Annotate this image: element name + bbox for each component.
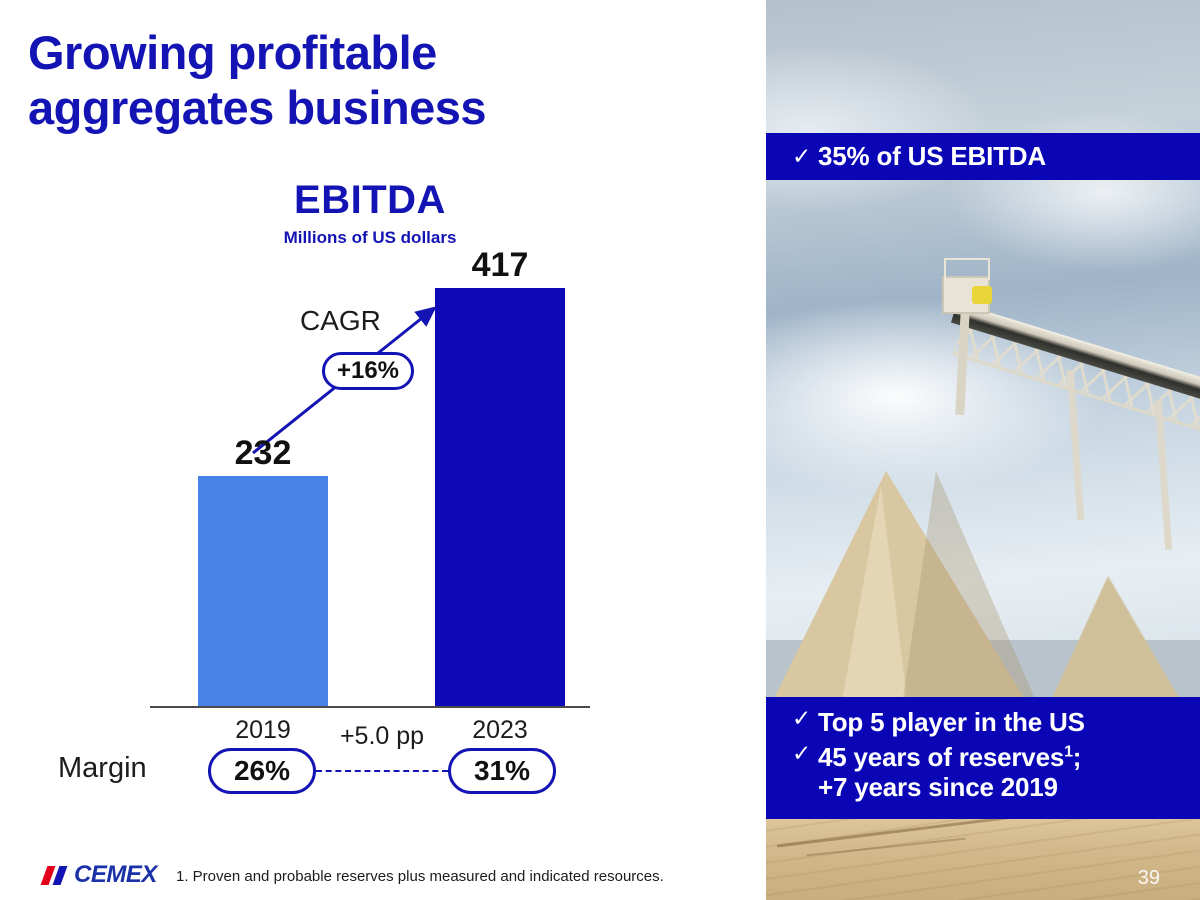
page-title: Growing profitable aggregates business (28, 26, 648, 135)
margin-badge-2019: 26% (208, 748, 316, 794)
conveyor-handrail (944, 258, 990, 280)
bar-value-2023: 417 (435, 246, 565, 285)
cagr-label: CAGR (300, 305, 381, 337)
highlight-top-text: 35% of US EBITDA (818, 141, 1046, 172)
x-tick-2023: 2023 (435, 716, 565, 745)
bar-2023 (435, 288, 565, 706)
page-number: 39 (1138, 867, 1160, 890)
ground-streak-one (777, 815, 1016, 847)
ground-strip (766, 816, 1200, 900)
photo-panel: ✓ 35% of US EBITDA ✓ Top 5 player in the… (766, 0, 1200, 900)
bar-value-2019: 232 (198, 434, 328, 473)
logo-slashes-icon (42, 864, 72, 886)
ebitda-chart: EBITDA Millions of US dollars CAGR +16% … (0, 170, 766, 810)
footnote-marker: 1 (1064, 743, 1073, 760)
highlight-banner-bottom: ✓ Top 5 player in the US ✓ 45 years of r… (766, 697, 1200, 819)
bar-2019 (198, 476, 328, 706)
left-content-panel: Growing profitable aggregates business E… (0, 0, 766, 900)
check-icon: ✓ (792, 742, 818, 765)
cagr-arrow-icon (0, 170, 766, 810)
highlight-bullet-one: ✓ Top 5 player in the US (792, 707, 1200, 738)
margin-connector-line (316, 770, 448, 772)
x-tick-2019: 2019 (198, 716, 328, 745)
conveyor-motor-icon (972, 286, 992, 304)
margin-delta-label: +5.0 pp (312, 722, 452, 751)
highlight-bullet-one-text: Top 5 player in the US (818, 707, 1085, 738)
margin-label: Margin (58, 752, 147, 785)
logo-text: CEMEX (74, 861, 157, 889)
margin-badge-2023: 31% (448, 748, 556, 794)
reserves-text: 45 years of reserves (818, 742, 1064, 772)
slide-root: Growing profitable aggregates business E… (0, 0, 1200, 900)
highlight-bullet-two: ✓ 45 years of reserves1;+7 years since 2… (792, 742, 1200, 803)
cagr-value-badge: +16% (322, 352, 414, 390)
highlight-bullet-two-text: 45 years of reserves1;+7 years since 201… (818, 742, 1081, 803)
check-icon: ✓ (792, 145, 818, 168)
footnote: 1. Proven and probable reserves plus mea… (176, 868, 664, 885)
highlight-banner-top: ✓ 35% of US EBITDA (766, 133, 1200, 180)
x-axis-line (150, 706, 590, 708)
check-icon: ✓ (792, 707, 818, 730)
chart-plot-area: CAGR +16% 232 417 2019 2023 Margin +5.0 … (0, 170, 766, 810)
reserves-line-two: +7 years since 2019 (818, 772, 1058, 802)
reserves-suffix: ; (1073, 742, 1081, 772)
cemex-logo: CEMEX (42, 862, 157, 888)
